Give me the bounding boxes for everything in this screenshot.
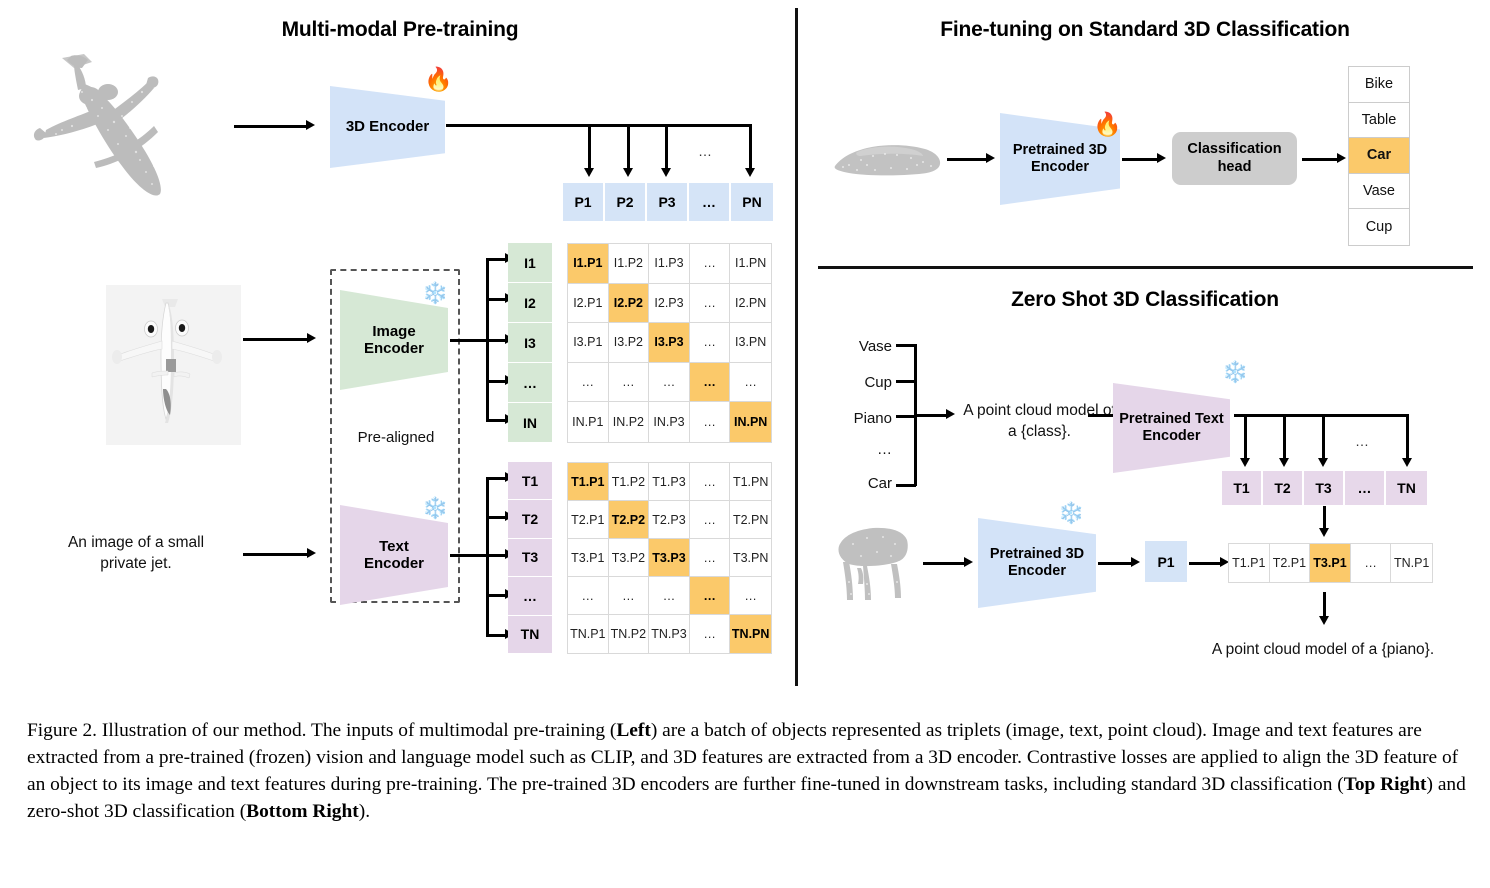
zs-branch-t3 (1322, 414, 1325, 462)
zs-class-piano: Piano (824, 409, 892, 429)
text-feature-labels: T1T2T3…TN (508, 462, 552, 654)
feature-label-cell: … (508, 577, 552, 615)
matrix-cell: I1.PN (730, 244, 771, 284)
matrix-row: T3.P1T3.P2T3.P3…T3.PN (568, 539, 771, 577)
classification-head[interactable]: Classification head (1172, 132, 1297, 185)
encoder-text-label: Text Encoder (364, 538, 424, 573)
snowflake-icon-3d-encoder-zs: ❄️ (1058, 503, 1084, 524)
matrix-cell: TN.P2 (609, 615, 650, 653)
arrow-pc-to-3dencoder-line (234, 125, 308, 128)
txt-fanout-spine (486, 478, 489, 636)
matrix-cell: T2.P2 (609, 501, 650, 539)
pretrained-3d-encoder-finetune-label: Pretrained 3D Encoder (1013, 142, 1107, 175)
matrix-cell: I1.P2 (609, 244, 650, 284)
matrix-cell: I3.P2 (609, 323, 650, 363)
encoder-image-label: Image Encoder (364, 323, 424, 358)
zs-t-feature-cell: TN (1386, 471, 1427, 505)
zs-similarity-cell: T3.P1 (1310, 544, 1351, 582)
snowflake-icon-text-encoder-zs: ❄️ (1222, 362, 1248, 383)
zs-t-feature-cell: T2 (1263, 471, 1304, 505)
arrow-text-to-encoder-line (243, 553, 309, 556)
bracket-tick-piano (896, 415, 916, 418)
matrix-cell: … (690, 323, 731, 363)
zs-branch-t3-head (1318, 458, 1328, 467)
matrix-cell: … (649, 577, 690, 615)
class-list-item[interactable]: Cup (1349, 209, 1409, 245)
figure-canvas: Multi-modal Pre-training Fine-tuning on … (0, 0, 1490, 888)
matrix-cell: T3.P3 (649, 539, 690, 577)
matrix-cell: IN.P2 (609, 402, 650, 442)
arrow-head-to-classes-head (1337, 153, 1346, 163)
branch-pn-head (745, 168, 755, 177)
zs-p1-feature: P1 (1145, 541, 1187, 582)
zeroshot-result-text: A point cloud model of a {piano}. (1178, 640, 1468, 661)
arrow-sim-to-result-head (1319, 616, 1329, 625)
matrix-cell: T1.PN (730, 463, 771, 501)
feature-label-cell: T1 (508, 462, 552, 500)
pretrained-text-encoder-line2: Encoder (1142, 428, 1200, 444)
matrix-cell: I2.P3 (649, 284, 690, 324)
point-cloud-airplane (22, 48, 252, 233)
image-feature-labels: I1I2I3…IN (508, 243, 552, 443)
feature-label-cell: T3 (508, 539, 552, 577)
zs-branch-tn (1406, 414, 1409, 462)
matrix-row: I3.P1I3.P2I3.P3…I3.PN (568, 323, 771, 363)
pretrained-3d-encoder-zeroshot-label: Pretrained 3D Encoder (990, 546, 1084, 579)
panel-title-zeroshot: Zero Shot 3D Classification (930, 288, 1360, 312)
pretrained-text-encoder-line1: Pretrained Text (1119, 411, 1224, 427)
zs-similarity-cell: TN.P1 (1391, 544, 1432, 582)
matrix-row: …………… (568, 577, 771, 615)
matrix-row: TN.P1TN.P2TN.P3…TN.PN (568, 615, 771, 653)
pretrained-text-encoder-label: Pretrained Text Encoder (1119, 411, 1224, 444)
class-list-item[interactable]: Vase (1349, 174, 1409, 210)
matrix-row: T1.P1T1.P2T1.P3…T1.PN (568, 463, 771, 501)
matrix-cell: … (609, 363, 650, 403)
arrow-bracket-to-prompt-line (914, 414, 948, 417)
branch-p2-head (623, 168, 633, 177)
matrix-cell: … (609, 577, 650, 615)
matrix-cell: TN.P1 (568, 615, 609, 653)
input-text-line2: private jet. (100, 555, 172, 572)
arrow-p1-to-sim-line (1189, 562, 1223, 565)
arrow-pc-to-3dencoder-head (306, 120, 315, 130)
prompt-template: A point cloud model of a {class}. (957, 401, 1122, 443)
pretrained-3d-encoder-zeroshot[interactable]: Pretrained 3D Encoder (978, 518, 1096, 608)
feature-label-cell: IN (508, 403, 552, 443)
matrix-cell: IN.P3 (649, 402, 690, 442)
matrix-cell: I2.P2 (609, 284, 650, 324)
class-list-item[interactable]: Bike (1349, 67, 1409, 103)
matrix-cell: … (690, 363, 731, 403)
matrix-cell: T3.PN (730, 539, 771, 577)
matrix-cell: T1.P1 (568, 463, 609, 501)
class-prediction-list[interactable]: BikeTableCarVaseCup (1348, 66, 1410, 246)
classification-head-label: Classification head (1187, 141, 1281, 176)
zs-similarity-cell: T1.P1 (1229, 544, 1270, 582)
pretrained-3d-encoder-finetune-line1: Pretrained 3D (1013, 142, 1107, 158)
matrix-cell: T2.PN (730, 501, 771, 539)
ellipsis-p-branch: … (698, 142, 712, 161)
pretrained-text-encoder[interactable]: Pretrained Text Encoder (1113, 383, 1230, 473)
arrow-head-to-classes-line (1302, 158, 1340, 161)
encoder-text-label-line2: Encoder (364, 555, 424, 572)
branch-p1-head (584, 168, 594, 177)
bracket-top (896, 344, 916, 347)
prompt-template-line2: a {class}. (1008, 423, 1071, 440)
p-feature-cell: P1 (563, 183, 605, 221)
img-fanout-stem (450, 339, 488, 342)
input-text-line1: An image of a small (68, 534, 204, 551)
zs-t-feature-cell: T1 (1222, 471, 1263, 505)
matrix-cell: I3.P1 (568, 323, 609, 363)
snowflake-icon-text-encoder: ❄️ (422, 498, 448, 519)
matrix-row: …………… (568, 363, 771, 403)
zs-branch-t1-head (1240, 458, 1250, 467)
matrix-row: T1.P1T2.P1T3.P1…TN.P1 (1229, 544, 1432, 582)
pretrained-3d-encoder-zeroshot-line2: Encoder (1008, 563, 1066, 579)
arrow-image-to-encoder-head (307, 333, 316, 343)
vertical-divider (795, 8, 798, 686)
arrow-text-to-encoder-head (307, 548, 316, 558)
arrow-bracket-to-prompt-head (946, 409, 955, 419)
matrix-cell: … (690, 463, 731, 501)
horizontal-divider (818, 266, 1473, 269)
pretrained-3d-encoder-zeroshot-line1: Pretrained 3D (990, 546, 1084, 562)
matrix-cell: I2.PN (730, 284, 771, 324)
branch-pn (749, 124, 752, 172)
matrix-cell: TN.PN (730, 615, 771, 653)
arrow-piano-to-encoder-line (923, 562, 967, 565)
caption-emphasis: Bottom Right (246, 801, 359, 822)
matrix-cell: T3.P1 (568, 539, 609, 577)
zs-similarity-cell: T2.P1 (1270, 544, 1311, 582)
p-feature-cell: P2 (605, 183, 647, 221)
matrix-row: IN.P1IN.P2IN.P3…IN.PN (568, 402, 771, 442)
bus-3dencoder-horizontal (446, 124, 751, 127)
matrix-cell: … (690, 501, 731, 539)
zs-class-cup: Cup (836, 373, 892, 393)
matrix-cell: … (690, 402, 731, 442)
branch-p3 (665, 124, 668, 172)
matrix-cell: T1.P3 (649, 463, 690, 501)
matrix-cell: … (690, 577, 731, 615)
matrix-cell: … (649, 363, 690, 403)
p-feature-row: P1P2P3…PN (563, 183, 773, 221)
branch-p1 (588, 124, 591, 172)
panel-title-multimodal-pretraining: Multi-modal Pre-training (200, 18, 600, 42)
pre-aligned-label: Pre-aligned (341, 429, 451, 446)
zs-branch-ellipsis: … (1355, 432, 1369, 451)
arrow-encoder-to-head-line (1122, 158, 1160, 161)
caption-emphasis: Left (616, 720, 650, 741)
point-cloud-piano (833, 522, 921, 608)
panel-title-finetuning: Fine-tuning on Standard 3D Classificatio… (880, 18, 1410, 42)
snowflake-icon-image-encoder: ❄️ (422, 283, 448, 304)
classification-head-line2: head (1218, 159, 1252, 175)
encoder-text-label-line1: Text (379, 538, 409, 555)
zs-class-ellipsis: … (836, 440, 892, 460)
arrow-trow-to-sim-head (1319, 528, 1329, 537)
matrix-cell: … (568, 363, 609, 403)
matrix-cell: I1.P3 (649, 244, 690, 284)
zs-similarity-row: T1.P1T2.P1T3.P1…TN.P1 (1228, 543, 1433, 583)
encoder-image-label-line2: Encoder (364, 340, 424, 357)
bracket-tick-cup (896, 380, 916, 383)
matrix-cell: I3.PN (730, 323, 771, 363)
input-image-jet (106, 285, 241, 445)
matrix-row: I2.P1I2.P2I2.P3…I2.PN (568, 284, 771, 324)
arrow-encoder-to-p1-head (1131, 557, 1140, 567)
fire-icon-finetune-encoder: 🔥 (1093, 113, 1122, 136)
classification-head-line1: Classification (1187, 141, 1281, 157)
matrix-cell: I2.P1 (568, 284, 609, 324)
feature-label-cell: I2 (508, 283, 552, 323)
matrix-row: T2.P1T2.P2T2.P3…T2.PN (568, 501, 771, 539)
matrix-cell: … (730, 577, 771, 615)
feature-label-cell: TN (508, 616, 552, 654)
p-feature-cell: PN (731, 183, 773, 221)
matrix-cell: IN.PN (730, 402, 771, 442)
matrix-cell: T2.P1 (568, 501, 609, 539)
text-similarity-matrix: T1.P1T1.P2T1.P3…T1.PNT2.P1T2.P2T2.P3…T2.… (567, 462, 772, 654)
matrix-cell: … (690, 284, 731, 324)
zs-t-feature-cell: … (1345, 471, 1386, 505)
p-feature-cell: P3 (647, 183, 689, 221)
zs-class-car: Car (836, 474, 892, 494)
arrow-trow-to-sim-line (1323, 506, 1326, 530)
arrow-car-to-encoder-line (947, 158, 989, 161)
figure-caption: Figure 2. Illustration of our method. Th… (27, 718, 1467, 826)
caption-emphasis: Top Right (1344, 774, 1427, 795)
zs-similarity-cell: … (1351, 544, 1392, 582)
branch-p2 (627, 124, 630, 172)
feature-label-cell: I3 (508, 323, 552, 363)
encoder-3d[interactable]: 3D Encoder (330, 86, 445, 168)
caption-text: ). (359, 801, 370, 822)
matrix-cell: T1.P2 (609, 463, 650, 501)
arrow-image-to-encoder-line (243, 338, 309, 341)
matrix-cell: I1.P1 (568, 244, 609, 284)
matrix-cell: … (568, 577, 609, 615)
matrix-cell: … (690, 244, 731, 284)
class-list-item[interactable]: Car (1349, 138, 1409, 174)
encoder-image-label-line1: Image (372, 323, 415, 340)
fire-icon-3d-encoder: 🔥 (424, 68, 453, 91)
matrix-cell: T3.P2 (609, 539, 650, 577)
matrix-cell: T2.P3 (649, 501, 690, 539)
matrix-cell: … (690, 539, 731, 577)
zs-branch-t1 (1244, 414, 1247, 462)
bracket-bottom (896, 484, 916, 487)
zs-branch-t2 (1283, 414, 1286, 462)
arrow-car-to-encoder-head (986, 153, 995, 163)
arrow-encoder-to-p1-line (1098, 562, 1134, 565)
matrix-cell: IN.P1 (568, 402, 609, 442)
point-cloud-car (827, 132, 945, 188)
matrix-cell: TN.P3 (649, 615, 690, 653)
feature-label-cell: I1 (508, 243, 552, 283)
arrow-piano-to-encoder-head (964, 557, 973, 567)
zs-branch-t2-head (1279, 458, 1289, 467)
arrow-sim-to-result-line (1323, 592, 1326, 618)
feature-label-cell: … (508, 363, 552, 403)
caption-text: Figure 2. Illustration of our method. Th… (27, 720, 616, 741)
encoder-3d-label: 3D Encoder (346, 118, 429, 135)
zs-text-feature-row: T1T2T3…TN (1222, 471, 1427, 505)
feature-label-cell: T2 (508, 500, 552, 538)
matrix-cell: … (730, 363, 771, 403)
txt-fanout-stem (450, 554, 488, 557)
arrow-encoder-to-head-head (1157, 153, 1166, 163)
matrix-row: I1.P1I1.P2I1.P3…I1.PN (568, 244, 771, 284)
pretrained-3d-encoder-finetune-line2: Encoder (1031, 159, 1089, 175)
zs-branch-tn-head (1402, 458, 1412, 467)
image-similarity-matrix: I1.P1I1.P2I1.P3…I1.PNI2.P1I2.P2I2.P3…I2.… (567, 243, 772, 443)
input-text-caption: An image of a small private jet. (36, 533, 236, 575)
matrix-cell: … (690, 615, 731, 653)
zs-t-feature-cell: T3 (1304, 471, 1345, 505)
class-list-item[interactable]: Table (1349, 103, 1409, 139)
branch-p3-head (661, 168, 671, 177)
p-feature-cell: … (689, 183, 731, 221)
zs-class-vase: Vase (836, 337, 892, 357)
matrix-cell: I3.P3 (649, 323, 690, 363)
